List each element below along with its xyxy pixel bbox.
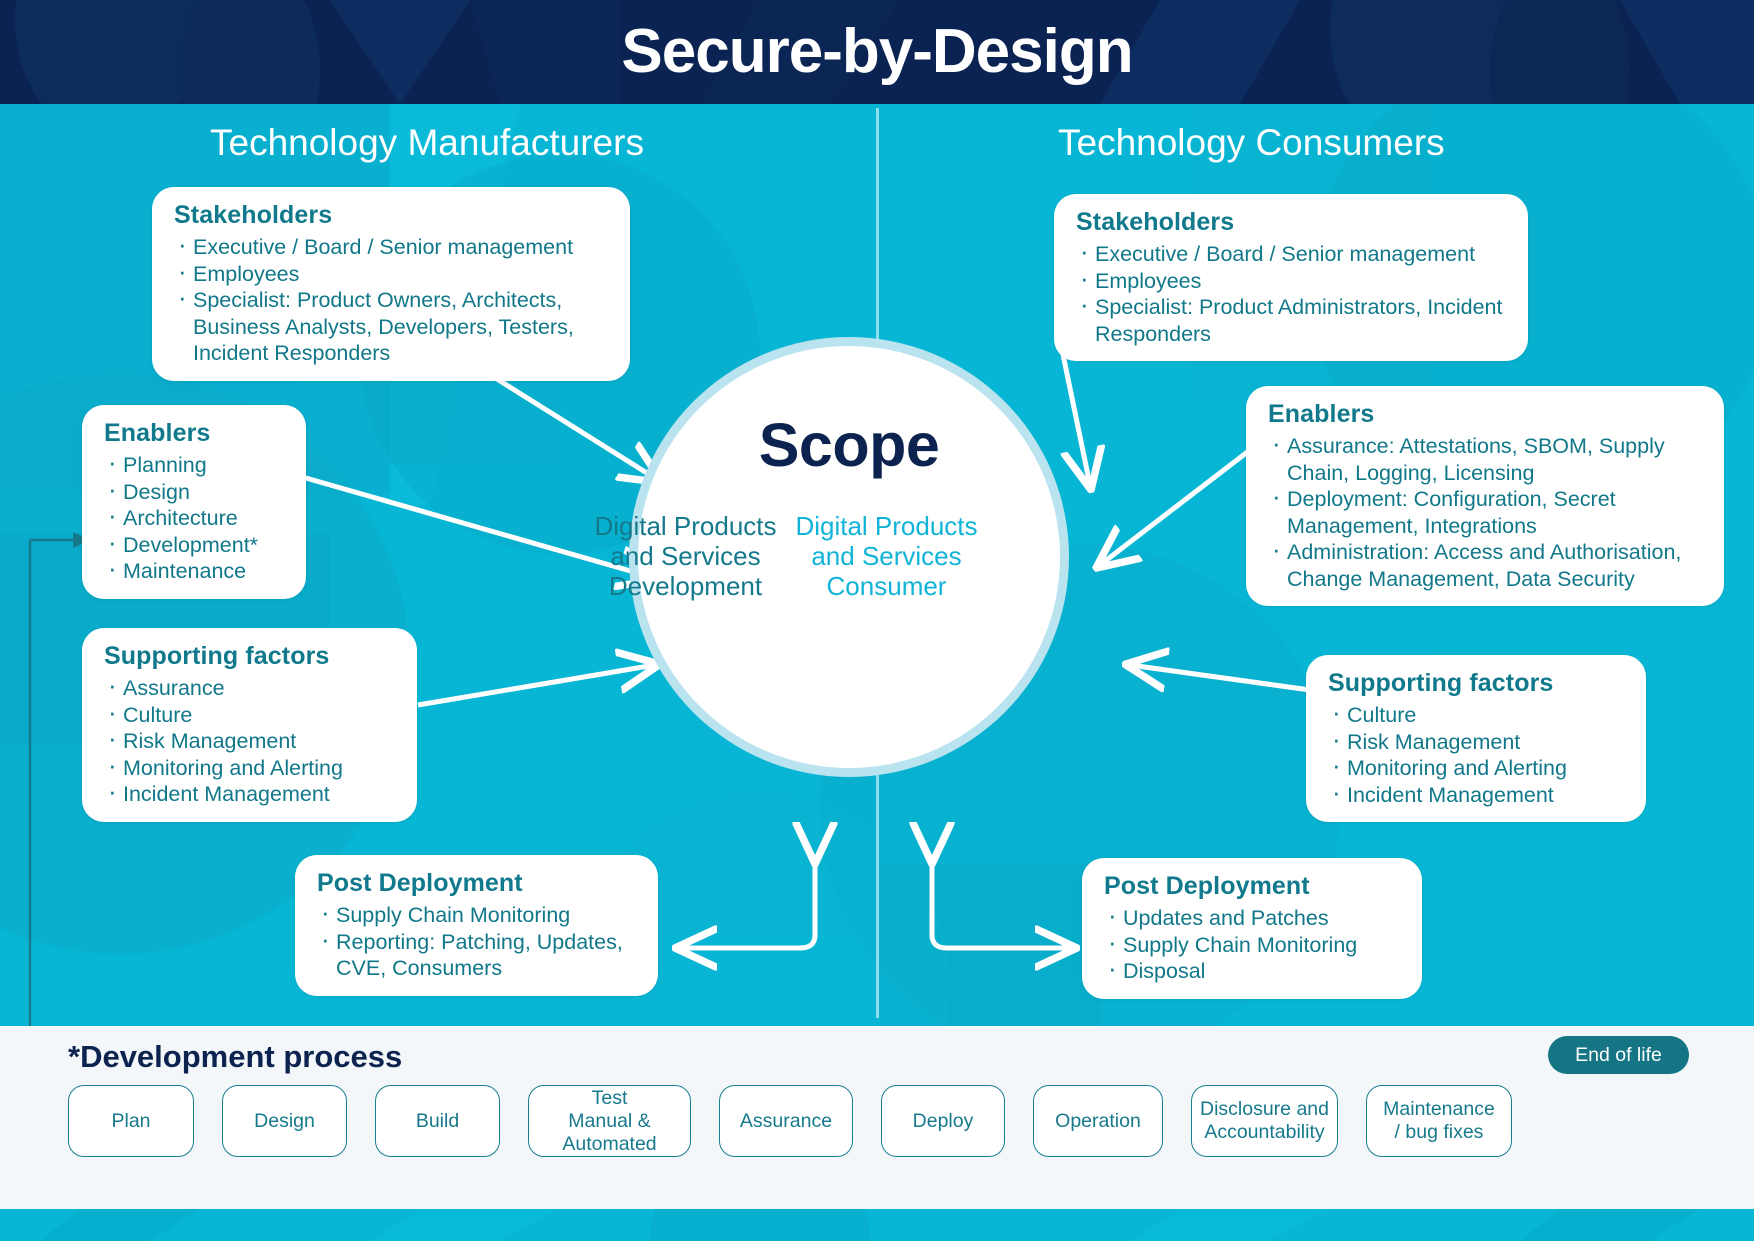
- card-list: Supply Chain Monitoring Reporting: Patch…: [317, 902, 638, 982]
- card-list: Planning Design Architecture Development…: [104, 452, 286, 585]
- card-heading: Stakeholders: [1076, 206, 1508, 239]
- list-item: Architecture: [104, 505, 286, 532]
- list-item: Disposal: [1104, 958, 1402, 985]
- card-heading: Enablers: [104, 417, 286, 450]
- card-consumers-supporting-factors[interactable]: Supporting factors Culture Risk Manageme…: [1306, 655, 1646, 822]
- process-step-plan[interactable]: Plan: [68, 1085, 194, 1157]
- process-step-operation[interactable]: Operation: [1033, 1085, 1163, 1157]
- process-step-deploy[interactable]: Deploy: [881, 1085, 1005, 1157]
- list-item: Development*: [104, 532, 286, 559]
- card-list: Assurance: Attestations, SBOM, Supply Ch…: [1268, 433, 1704, 592]
- list-item: Incident Management: [1328, 782, 1626, 809]
- list-item: Supply Chain Monitoring: [1104, 932, 1402, 959]
- list-item: Culture: [104, 702, 397, 729]
- list-item: Design: [104, 479, 286, 506]
- list-item: Specialist: Product Administrators, Inci…: [1076, 294, 1508, 347]
- list-item: Reporting: Patching, Updates, CVE, Consu…: [317, 929, 638, 982]
- card-consumers-enablers[interactable]: Enablers Assurance: Attestations, SBOM, …: [1246, 386, 1724, 606]
- footer-accent-bar: [0, 1209, 1754, 1241]
- scope-label-development: Digital Products and Services Developmen…: [588, 511, 783, 601]
- infographic-root: Secure-by-Design: [0, 0, 1754, 1241]
- process-step-design[interactable]: Design: [222, 1085, 347, 1157]
- card-manufacturers-supporting-factors[interactable]: Supporting factors Assurance Culture Ris…: [82, 628, 417, 822]
- card-heading: Supporting factors: [104, 640, 397, 673]
- card-heading: Supporting factors: [1328, 667, 1626, 700]
- scope-title: Scope: [638, 410, 1060, 480]
- process-step-disclosure[interactable]: Disclosure andAccountability: [1191, 1085, 1338, 1157]
- process-step-build[interactable]: Build: [375, 1085, 500, 1157]
- card-heading: Post Deployment: [1104, 870, 1402, 903]
- list-item: Assurance: [104, 675, 397, 702]
- card-manufacturers-stakeholders[interactable]: Stakeholders Executive / Board / Senior …: [152, 187, 630, 381]
- footer-background-pattern: [0, 1209, 1754, 1241]
- list-item: Administration: Access and Authorisation…: [1268, 539, 1704, 592]
- list-item: Monitoring and Alerting: [1328, 755, 1626, 782]
- card-manufacturers-post-deployment[interactable]: Post Deployment Supply Chain Monitoring …: [295, 855, 658, 996]
- development-process-title: *Development process: [68, 1039, 402, 1075]
- list-item: Deployment: Configuration, Secret Manage…: [1268, 486, 1704, 539]
- header-banner: Secure-by-Design: [0, 0, 1754, 104]
- card-list: Updates and Patches Supply Chain Monitor…: [1104, 905, 1402, 985]
- list-item: Planning: [104, 452, 286, 479]
- card-consumers-post-deployment[interactable]: Post Deployment Updates and Patches Supp…: [1082, 858, 1422, 999]
- scope-label-consumer: Digital Products and Services Consumer: [789, 511, 984, 601]
- card-heading: Stakeholders: [174, 199, 610, 232]
- list-item: Assurance: Attestations, SBOM, Supply Ch…: [1268, 433, 1704, 486]
- end-of-life-badge: End of life: [1548, 1036, 1689, 1074]
- card-list: Culture Risk Management Monitoring and A…: [1328, 702, 1626, 808]
- list-item: Updates and Patches: [1104, 905, 1402, 932]
- list-item: Employees: [174, 261, 610, 288]
- process-step-maintenance[interactable]: Maintenance/ bug fixes: [1366, 1085, 1512, 1157]
- list-item: Executive / Board / Senior management: [174, 234, 610, 261]
- process-step-assurance[interactable]: Assurance: [719, 1085, 853, 1157]
- card-heading: Enablers: [1268, 398, 1704, 431]
- column-title-manufacturers: Technology Manufacturers: [210, 122, 644, 164]
- process-step-test[interactable]: TestManual &Automated: [528, 1085, 691, 1157]
- card-manufacturers-enablers[interactable]: Enablers Planning Design Architecture De…: [82, 405, 306, 599]
- list-item: Culture: [1328, 702, 1626, 729]
- list-item: Risk Management: [1328, 729, 1626, 756]
- list-item: Supply Chain Monitoring: [317, 902, 638, 929]
- page-title: Secure-by-Design: [0, 4, 1754, 100]
- list-item: Employees: [1076, 268, 1508, 295]
- list-item: Risk Management: [104, 728, 397, 755]
- card-heading: Post Deployment: [317, 867, 638, 900]
- card-list: Executive / Board / Senior management Em…: [174, 234, 610, 367]
- list-item: Executive / Board / Senior management: [1076, 241, 1508, 268]
- list-item: Monitoring and Alerting: [104, 755, 397, 782]
- card-list: Assurance Culture Risk Management Monito…: [104, 675, 397, 808]
- list-item: Incident Management: [104, 781, 397, 808]
- list-item: Specialist: Product Owners, Architects, …: [174, 287, 610, 367]
- list-item: Maintenance: [104, 558, 286, 585]
- card-list: Executive / Board / Senior management Em…: [1076, 241, 1508, 347]
- column-title-consumers: Technology Consumers: [1058, 122, 1445, 164]
- card-consumers-stakeholders[interactable]: Stakeholders Executive / Board / Senior …: [1054, 194, 1528, 361]
